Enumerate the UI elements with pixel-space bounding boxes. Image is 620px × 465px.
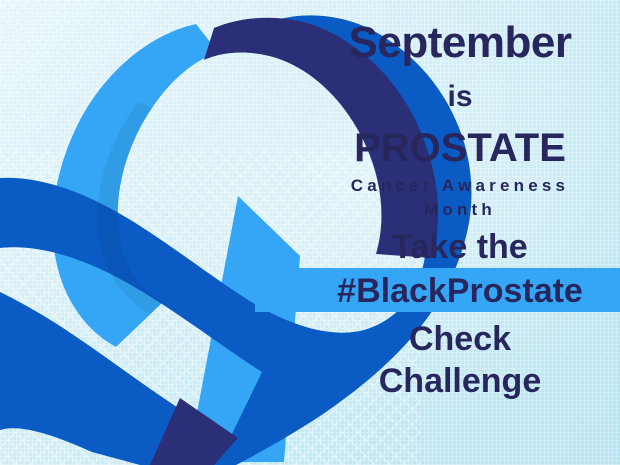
awareness-ribbon-icon [0, 0, 620, 465]
hashtag-highlight-bar [255, 268, 620, 312]
awareness-poster: September is PROSTATE Cancer Awareness M… [0, 0, 620, 465]
